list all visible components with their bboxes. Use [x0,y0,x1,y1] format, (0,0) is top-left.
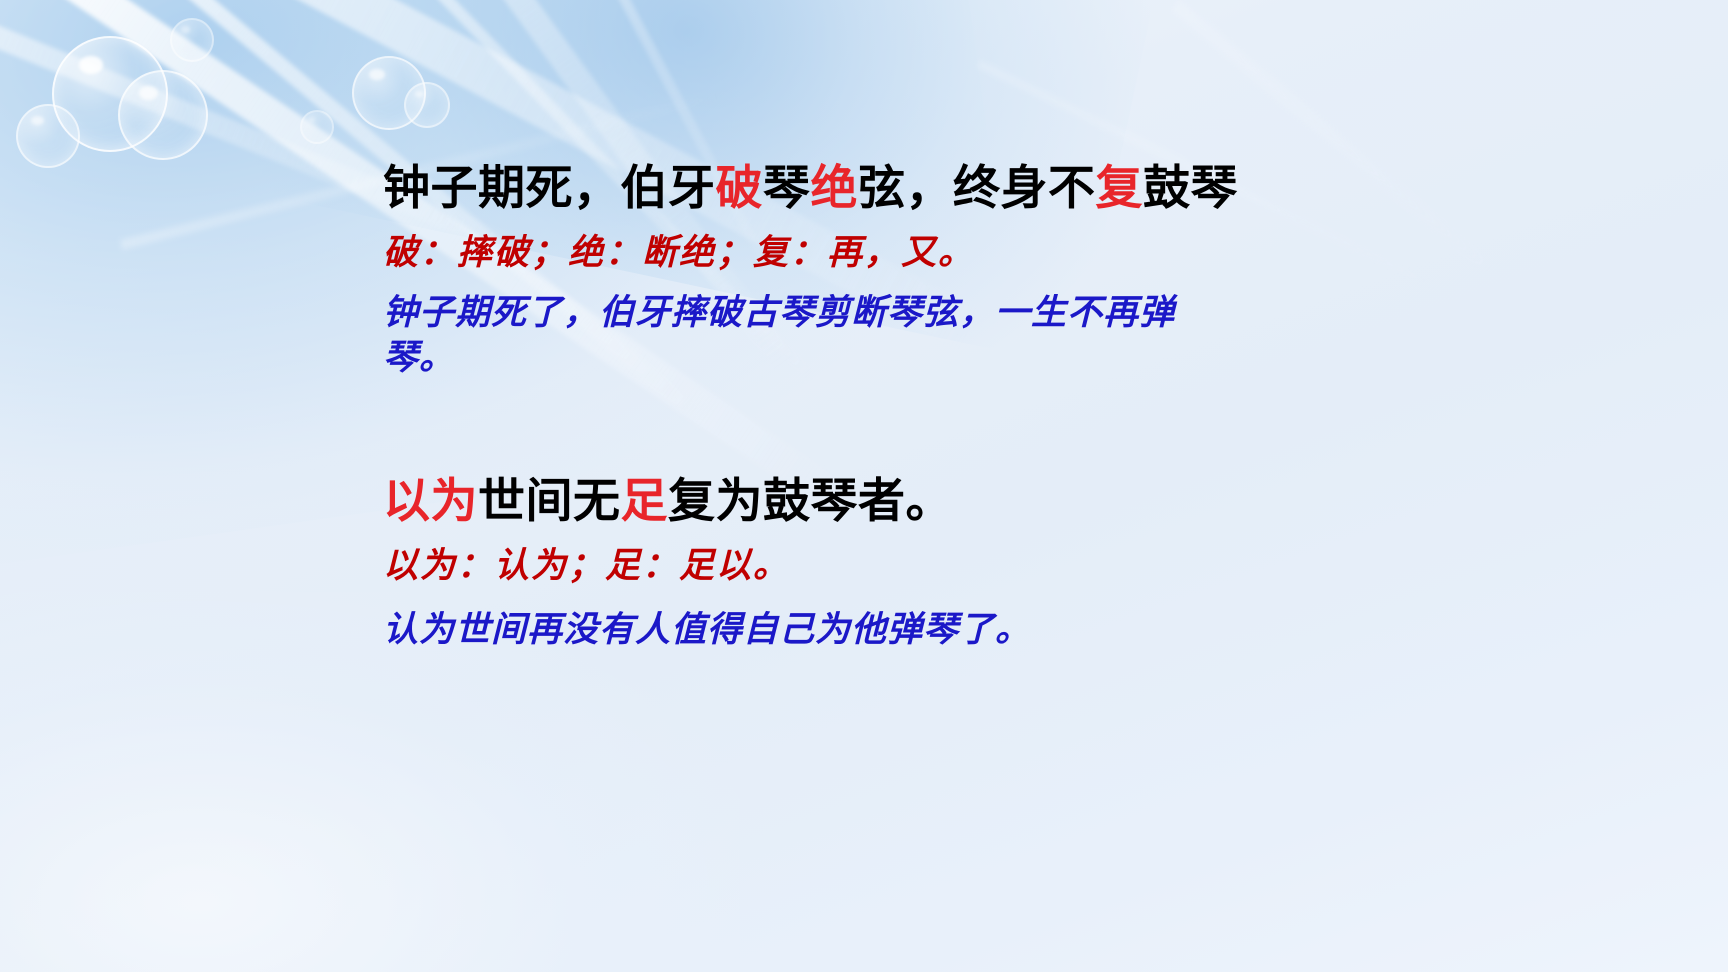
section-2-translation: 认为世间再没有人值得自己为他弹琴了。 [383,608,1203,653]
heading-run: 鼓琴 [1143,161,1238,214]
bubble-icon [52,36,168,152]
heading-run: 以为 [383,474,478,527]
heading-run: 弦，终身不 [858,161,1096,214]
heading-run: 钟子期死，伯牙 [383,161,716,214]
bubble-icon [300,110,334,144]
slide-canvas: 钟子期死，伯牙破琴绝弦，终身不复鼓琴 破：摔破；绝：断绝；复：再，又。 钟子期死… [0,0,1728,972]
section-2-annotation: 以为：认为；足：足以。 [383,544,1563,588]
heading-run: 复为鼓琴者。 [668,474,953,527]
heading-run: 琴 [763,161,811,214]
bubble-icon [16,104,80,168]
section-1: 钟子期死，伯牙破琴绝弦，终身不复鼓琴 破：摔破；绝：断绝；复：再，又。 钟子期死… [383,160,1563,381]
bubble-icon [170,18,214,62]
bubble-icon [352,56,426,130]
bubble-icon [118,70,208,160]
heading-run: 足 [621,474,669,527]
section-2-heading: 以为世间无足复为鼓琴者。 [383,473,1563,528]
heading-run: 复 [1096,161,1144,214]
heading-run: 绝 [811,161,859,214]
heading-run: 世间无 [478,474,621,527]
section-2: 以为世间无足复为鼓琴者。 以为：认为；足：足以。 认为世间再没有人值得自己为他弹… [383,473,1563,653]
section-1-annotation: 破：摔破；绝：断绝；复：再，又。 [383,231,1563,275]
heading-run: 破 [716,161,764,214]
section-1-heading: 钟子期死，伯牙破琴绝弦，终身不复鼓琴 [383,160,1563,215]
bubble-icon [404,82,450,128]
slide-content: 钟子期死，伯牙破琴绝弦，终身不复鼓琴 破：摔破；绝：断绝；复：再，又。 钟子期死… [383,160,1563,653]
section-1-translation: 钟子期死了，伯牙摔破古琴剪断琴弦，一生不再弹琴。 [383,291,1203,381]
